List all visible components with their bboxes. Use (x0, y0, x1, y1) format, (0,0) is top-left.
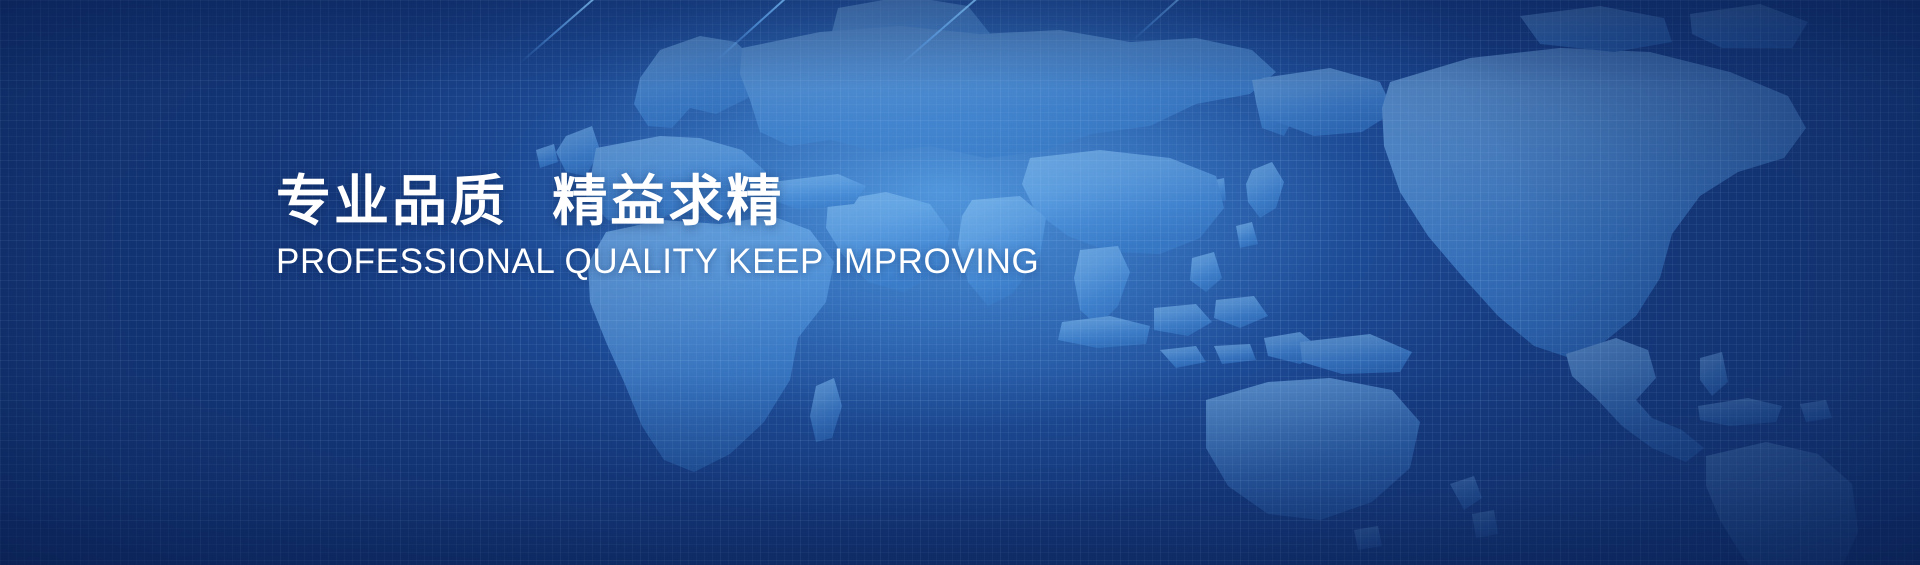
light-streak-1 (519, 0, 671, 64)
hero-banner: 专业品质 精益求精 PROFESSIONAL QUALITY KEEP IMPR… (0, 0, 1920, 565)
light-streak-3 (897, 0, 1057, 68)
light-streak-4 (1131, 0, 1222, 42)
slogan-text-block: 专业品质 精益求精 PROFESSIONAL QUALITY KEEP IMPR… (276, 168, 1176, 284)
light-streak-2 (715, 0, 902, 62)
headline-english: PROFESSIONAL QUALITY KEEP IMPROVING (276, 240, 1176, 284)
headline-chinese: 专业品质 精益求精 (276, 168, 1176, 234)
